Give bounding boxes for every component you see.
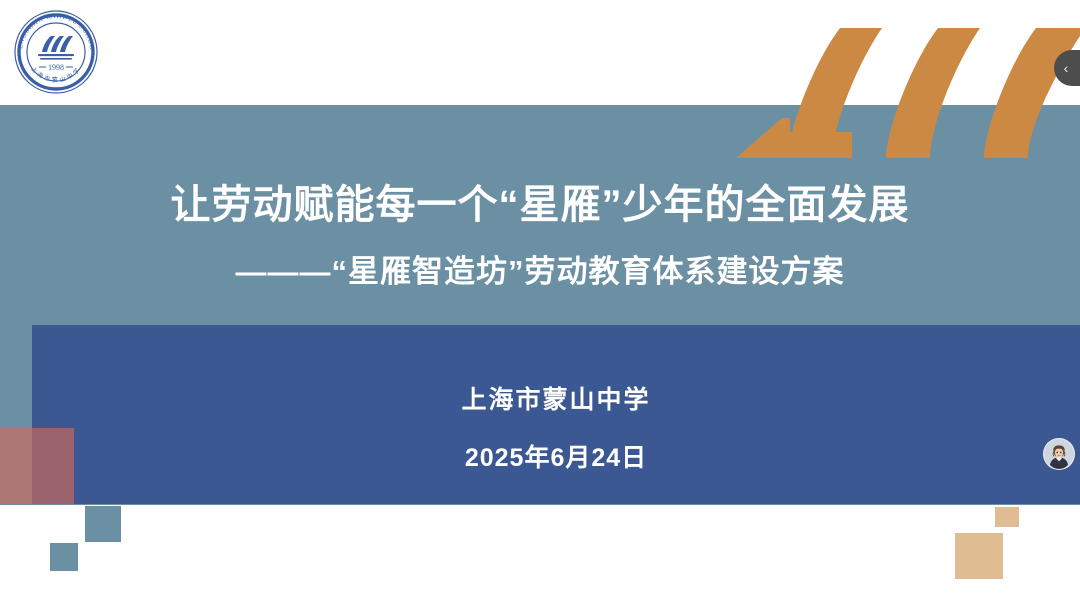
title-block: 让劳动赋能每一个“星雁”少年的全面发展 ———“星雁智造坊”劳动教育体系建设方案 [0,180,1080,292]
school-logo: MENGSHAN MIDDLE SCHOOL 上海市蒙山中学 1998 [12,8,100,96]
orange-wave-stripes [728,0,1080,170]
decor-square-tan-large [955,533,1003,579]
page-title: 让劳动赋能每一个“星雁”少年的全面发展 [0,180,1080,230]
decor-square-tan-small [995,507,1019,527]
chevron-left-icon: ‹ [1064,61,1069,75]
avatar[interactable] [1043,438,1075,470]
decor-square-teal-large [85,506,121,542]
presentation-date: 2025年6月24日 [32,438,1080,474]
decor-square-teal-small [50,543,78,571]
svg-text:1998: 1998 [48,63,64,72]
organization-name: 上海市蒙山中学 [32,380,1080,416]
organization-block: 上海市蒙山中学 2025年6月24日 [32,380,1080,474]
page-subtitle: ———“星雁智造坊”劳动教育体系建设方案 [0,252,1080,292]
presentation-slide: 让劳动赋能每一个“星雁”少年的全面发展 ———“星雁智造坊”劳动教育体系建设方案… [0,0,1080,604]
